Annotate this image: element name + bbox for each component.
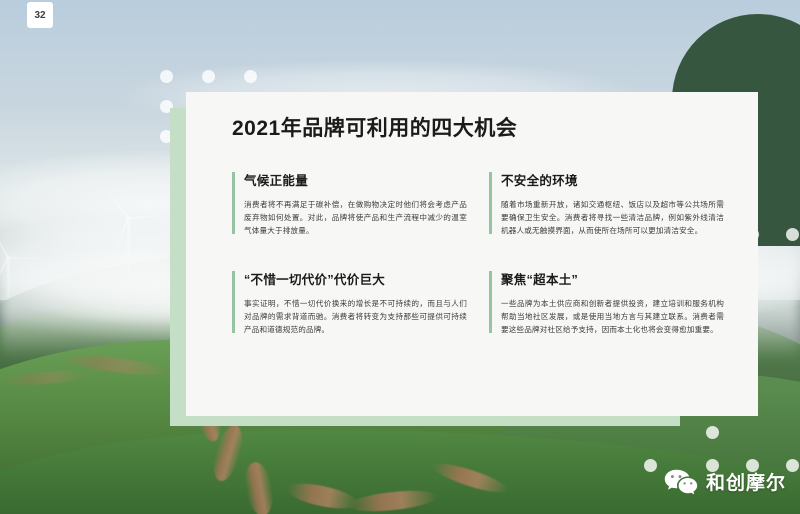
wechat-branding: 和创摩尔 — [664, 468, 786, 495]
opportunity-heading: 气候正能量 — [244, 170, 467, 189]
page-number-badge: 32 — [27, 2, 53, 28]
opportunity-item-1: 气候正能量 消费者将不再满足于碳补偿，在做购物决定时他们将会考虑产品废弃物如何处… — [232, 170, 467, 237]
accent-bar — [489, 172, 492, 234]
opportunity-item-2: 不安全的环境 随着市场重新开放，诸如交通枢纽、饭店以及超市等公共场所需要确保卫生… — [489, 170, 724, 237]
slide: 2021年品牌可利用的四大机会 气候正能量 消费者将不再满足于碳补偿，在做购物决… — [0, 0, 800, 514]
wechat-icon — [664, 469, 698, 495]
opportunity-body: 消费者将不再满足于碳补偿，在做购物决定时他们将会考虑产品废弃物如何处置。对此，品… — [244, 198, 467, 237]
opportunity-item-3: “不惜一切代价”代价巨大 事实证明，不惜一切代价换来的增长是不可持续的，而且与人… — [232, 269, 467, 336]
wechat-label: 和创摩尔 — [706, 468, 786, 495]
opportunities-grid: 气候正能量 消费者将不再满足于碳补偿，在做购物决定时他们将会考虑产品废弃物如何处… — [232, 170, 724, 336]
opportunity-body: 一些品牌为本土供应商和创新者提供投资，建立培训和服务机构帮助当地社区发展，或是使… — [501, 297, 724, 336]
content-card: 2021年品牌可利用的四大机会 气候正能量 消费者将不再满足于碳补偿，在做购物决… — [186, 92, 758, 416]
opportunity-body: 随着市场重新开放，诸如交通枢纽、饭店以及超市等公共场所需要确保卫生安全。消费者将… — [501, 198, 724, 237]
opportunity-item-4: 聚焦“超本土” 一些品牌为本土供应商和创新者提供投资，建立培训和服务机构帮助当地… — [489, 269, 724, 336]
page-title: 2021年品牌可利用的四大机会 — [232, 112, 517, 142]
opportunity-heading: 不安全的环境 — [501, 170, 724, 189]
opportunity-heading: 聚焦“超本土” — [501, 269, 724, 288]
opportunity-heading: “不惜一切代价”代价巨大 — [244, 269, 467, 288]
accent-bar — [489, 271, 492, 333]
accent-bar — [232, 172, 235, 234]
decorative-green-block — [758, 96, 800, 246]
opportunity-body: 事实证明，不惜一切代价换来的增长是不可持续的，而且与人们对品牌的需求背道而驰。消… — [244, 297, 467, 336]
accent-bar — [232, 271, 235, 333]
